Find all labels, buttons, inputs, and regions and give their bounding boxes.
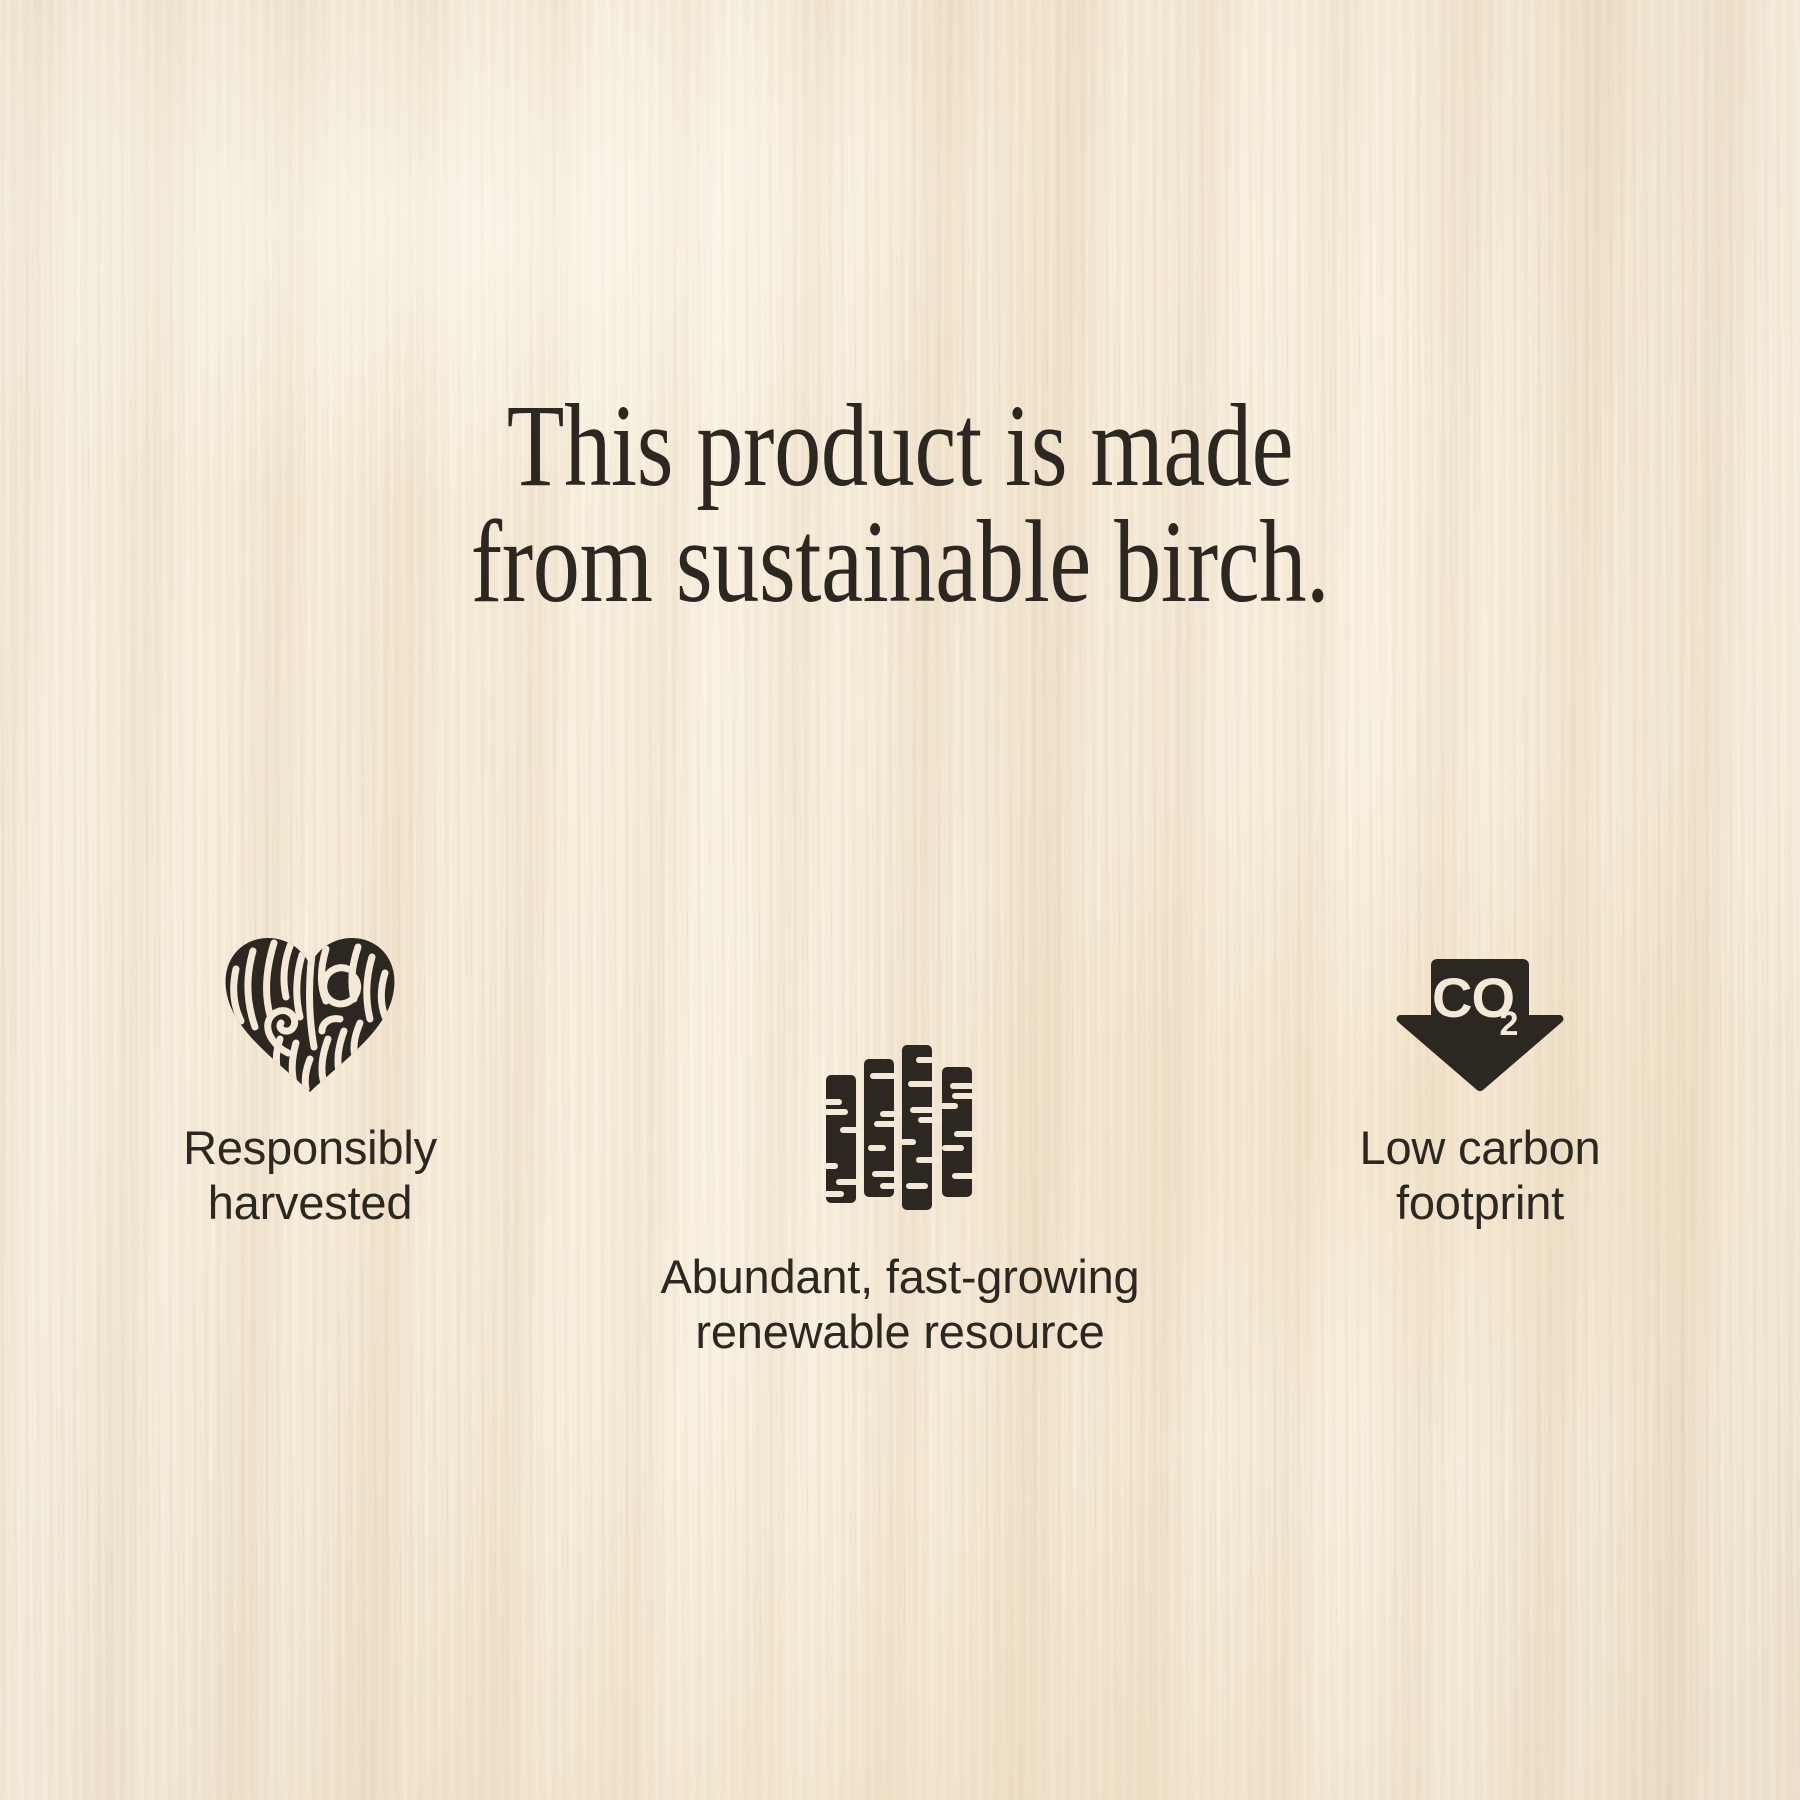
feature-caption: Low carbon footprint — [1290, 1121, 1670, 1230]
headline-line-2: from sustainable birch. — [180, 504, 1620, 620]
co2-down-arrow-icon: CO 2 — [1290, 920, 1670, 1095]
co2-subscript: 2 — [1500, 1005, 1519, 1043]
headline-line-1: This product is made — [180, 388, 1620, 504]
feature-caption: Abundant, fast-growing renewable resourc… — [600, 1250, 1200, 1359]
feature-item-responsibly-harvested: Responsibly harvested — [120, 920, 500, 1230]
page-title: This product is made from sustainable bi… — [180, 388, 1620, 619]
birch-trunks-icon — [600, 1035, 1200, 1210]
feature-caption: Responsibly harvested — [120, 1121, 500, 1230]
woodgrain-heart-icon — [120, 920, 500, 1095]
poster-canvas: This product is made from sustainable bi… — [0, 0, 1800, 1800]
feature-item-renewable-resource: Abundant, fast-growing renewable resourc… — [600, 1035, 1200, 1359]
feature-item-low-carbon-footprint: CO 2 Low carbon footprint — [1290, 920, 1670, 1230]
feature-list: Responsibly harvested — [0, 880, 1800, 1400]
